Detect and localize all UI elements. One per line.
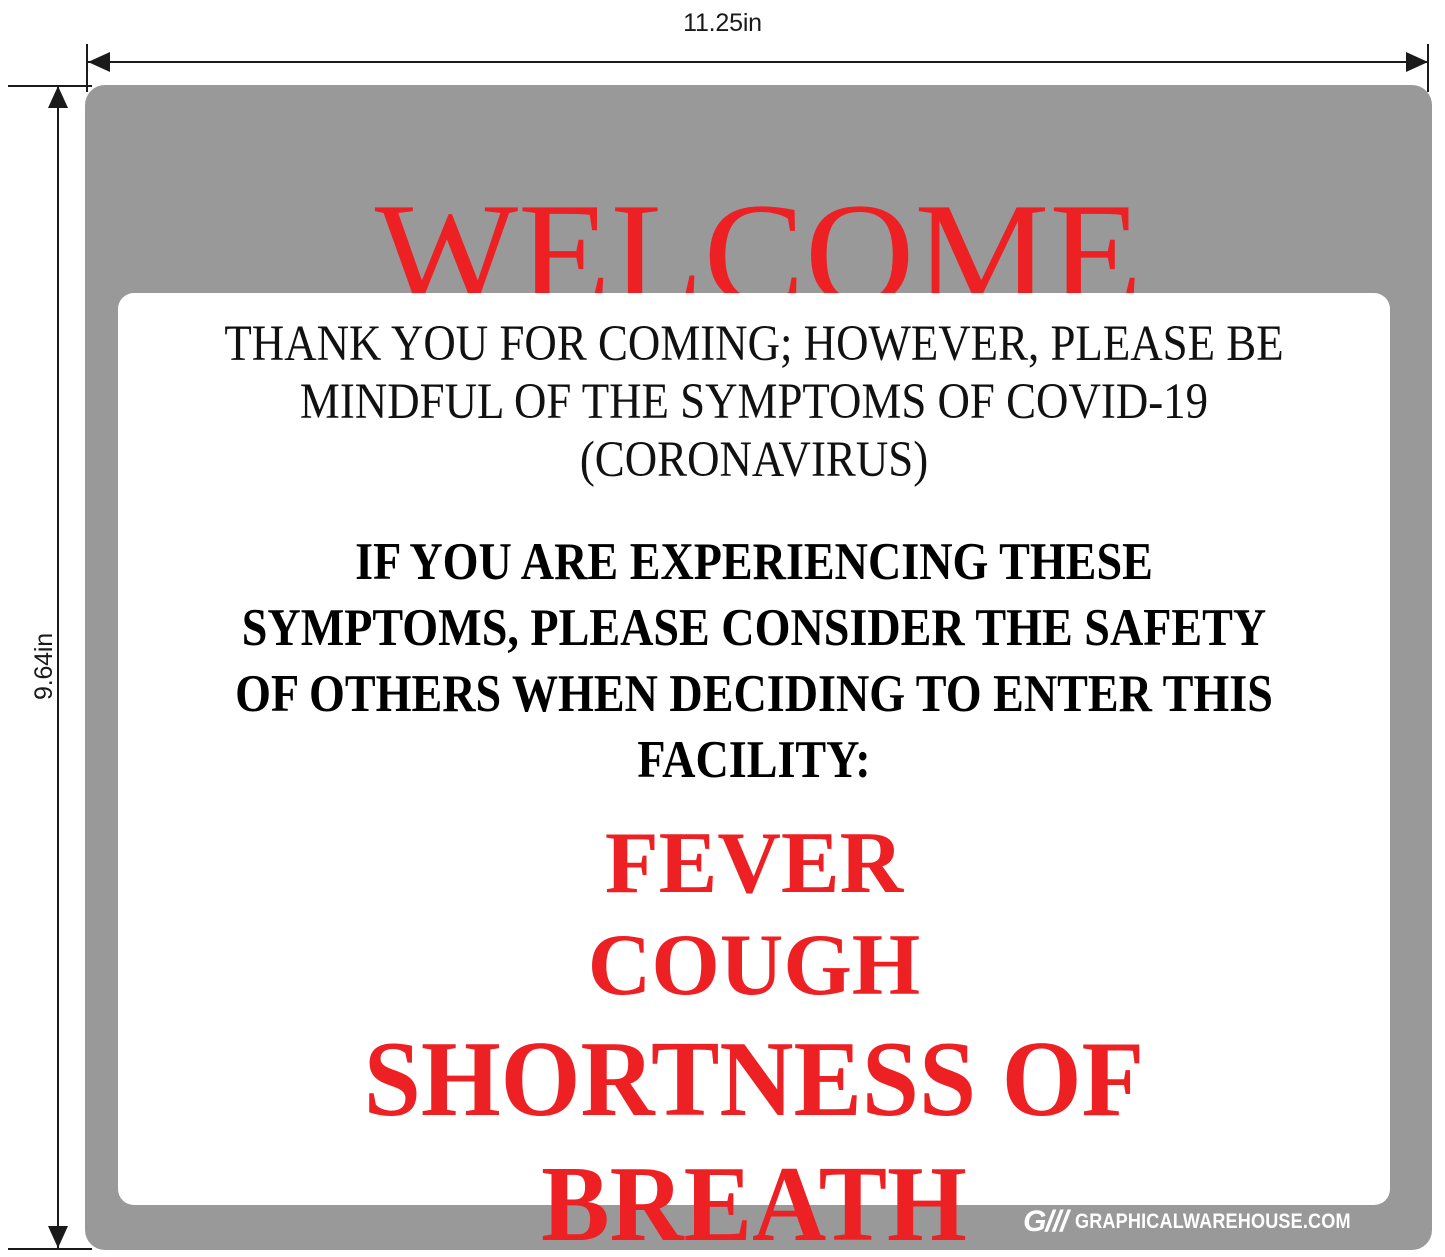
arrow-up-icon [48,86,68,108]
width-dimension-label: 11.25in [0,9,1445,38]
symptom-item: COUGH [118,915,1390,1017]
brand-wordmark: GRAPHICALWAREHOUSE.COM [1075,1210,1351,1234]
symptom-list: FEVER COUGH SHORTNESS OF BREATH [118,813,1390,1257]
arrow-down-icon [48,1226,68,1248]
arrow-right-icon [1406,52,1428,72]
directive-paragraph: IF YOU ARE EXPERIENCING THESE SYMPTOMS, … [218,529,1290,793]
width-dimension-line [88,61,1428,63]
brand-logo: G/// GRAPHICALWAREHOUSE.COM [1023,1207,1396,1237]
symptom-item: FEVER [118,813,1390,915]
sign-content-panel: THANK YOU FOR COMING; HOWEVER, PLEASE BE… [118,293,1390,1205]
sign-preview-canvas: 11.25in 9.64in WELCOME MEMBERS THANK YOU… [0,0,1445,1257]
sign-board: WELCOME MEMBERS THANK YOU FOR COMING; HO… [85,85,1432,1250]
intro-paragraph: THANK YOU FOR COMING; HOWEVER, PLEASE BE… [215,315,1292,489]
height-dimension-label: 9.64in [30,633,59,700]
arrow-left-icon [88,52,110,72]
graphical-warehouse-mark-icon: G/// [1023,1207,1067,1237]
extension-line-left-bottom [8,1248,92,1250]
